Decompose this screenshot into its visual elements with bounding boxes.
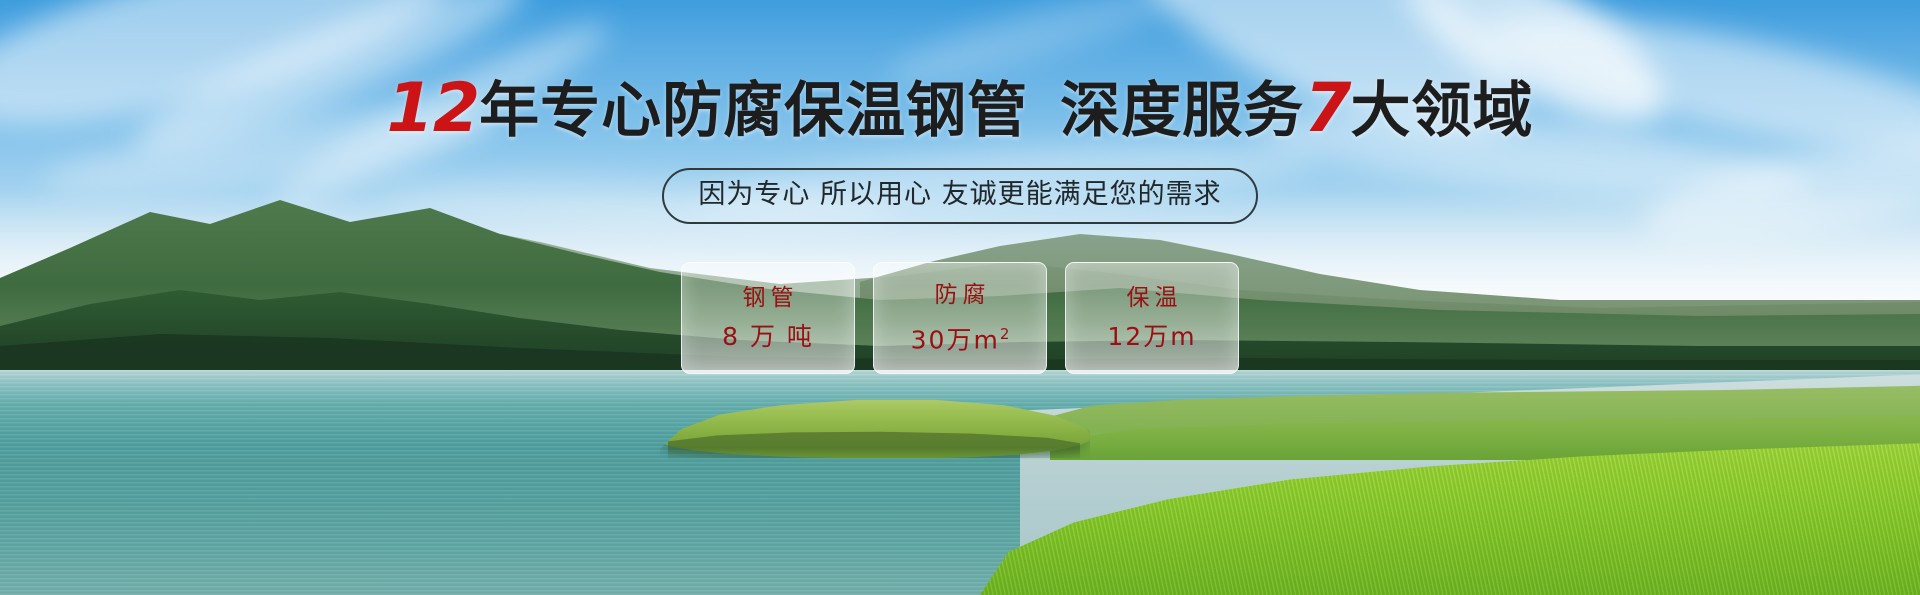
subtitle-pill: 因为专心 所以用心 友诚更能满足您的需求 [662,168,1257,224]
stat-card-anticorrosion[interactable]: 防腐 30万m2 [873,262,1047,374]
headline: 12年专心防腐保温钢管深度服务7大领域 [0,78,1920,142]
stat-card-insulation[interactable]: 保温 12万m [1065,262,1239,374]
headline-segment-three: 大领域 [1350,76,1533,146]
stat-card-title: 保温 [1122,286,1183,310]
stat-card-value: 12万m [1107,324,1196,350]
headline-fields-number: 7 [1304,69,1350,148]
stat-card-value: 30万m2 [911,321,1010,353]
stat-card-title: 防腐 [930,283,991,307]
stat-card-value-text: 8 万 吨 [722,322,814,351]
stat-card-title: 钢管 [738,286,799,310]
stat-card-value-text: 12万m [1107,322,1196,351]
subtitle-container: 因为专心 所以用心 友诚更能满足您的需求 [0,168,1920,224]
stat-card-steel-pipe[interactable]: 钢管 8 万 吨 [681,262,855,374]
stat-card-value-text: 30万m [911,325,1000,354]
stat-card-list: 钢管 8 万 吨 防腐 30万m2 保温 12万m [0,262,1920,374]
headline-segment-one: 年专心防腐保温钢管 [479,76,1028,146]
headline-years-number: 12 [387,69,480,148]
stat-card-value: 8 万 吨 [722,324,814,350]
stat-card-value-superscript: 2 [1000,325,1010,343]
hero-banner: 12年专心防腐保温钢管深度服务7大领域 因为专心 所以用心 友诚更能满足您的需求… [0,0,1920,595]
headline-segment-two: 深度服务 [1060,76,1304,146]
banner-content: 12年专心防腐保温钢管深度服务7大领域 因为专心 所以用心 友诚更能满足您的需求… [0,0,1920,595]
